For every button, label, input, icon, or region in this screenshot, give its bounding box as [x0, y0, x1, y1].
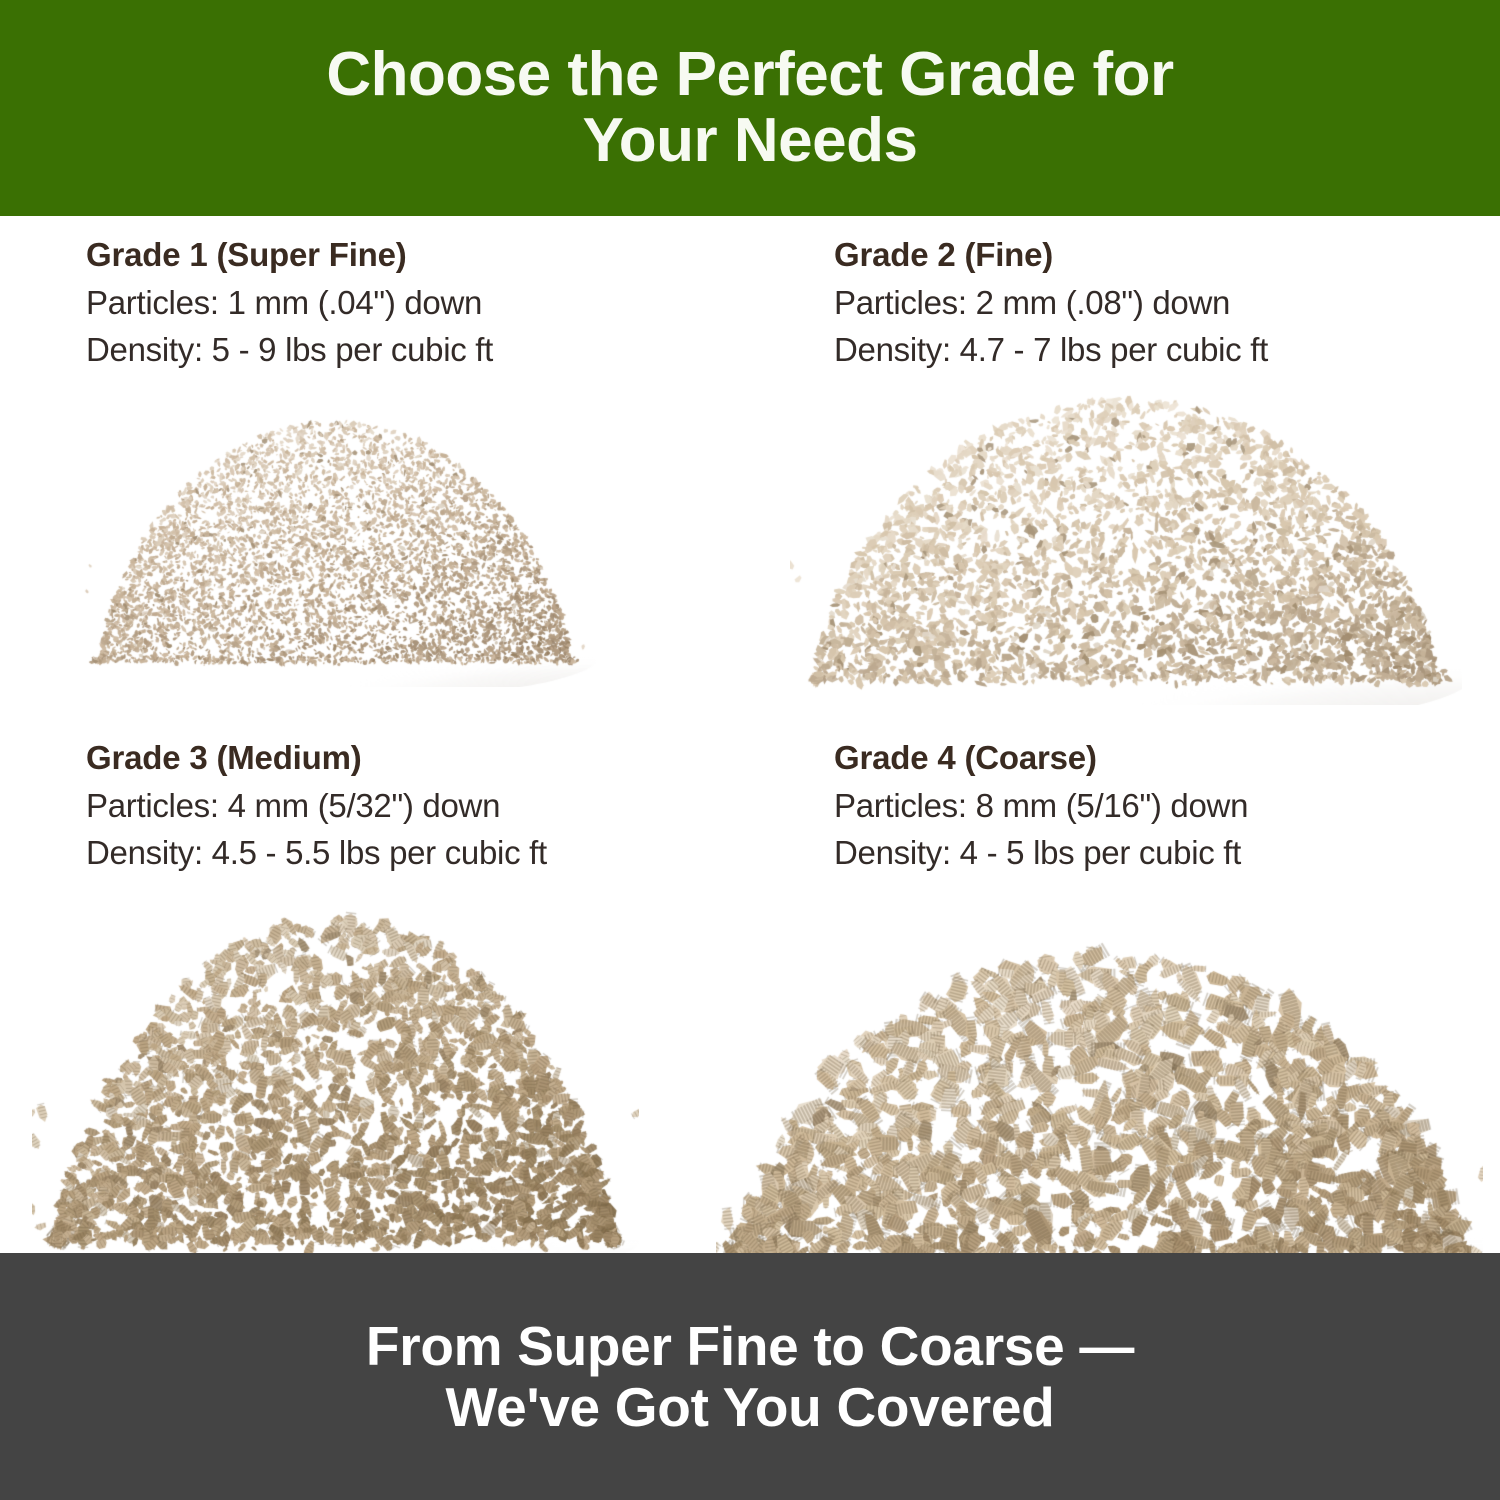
grade-1-text-block: Grade 1 (Super Fine) Particles: 1 mm (.0… — [86, 236, 726, 374]
grade-3-text-block: Grade 3 (Medium) Particles: 4 mm (5/32")… — [86, 739, 726, 877]
page-title-line-2: Your Needs — [190, 108, 1310, 174]
grade-1-particles: Particles: 1 mm (.04") down — [86, 280, 726, 327]
medium-vermiculite-pile-icon — [32, 893, 639, 1265]
grade-3-heading: Grade 3 (Medium) — [86, 739, 726, 777]
page-title: Choose the Perfect Grade for Your Needs — [190, 42, 1310, 173]
grade-2-particles: Particles: 2 mm (.08") down — [834, 280, 1474, 327]
header-banner: Choose the Perfect Grade for Your Needs — [0, 0, 1500, 216]
grade-card-4: Grade 4 (Coarse) Particles: 8 mm (5/16")… — [750, 719, 1500, 1231]
grade-card-2: Grade 2 (Fine) Particles: 2 mm (.08") do… — [750, 216, 1500, 728]
footer-banner: From Super Fine to Coarse — We've Got Yo… — [0, 1253, 1500, 1500]
grade-4-particles: Particles: 8 mm (5/16") down — [834, 783, 1474, 830]
coarse-vermiculite-pile-icon — [716, 928, 1483, 1280]
super-fine-vermiculite-pile-icon — [74, 395, 596, 687]
grade-grid: Grade 1 (Super Fine) Particles: 1 mm (.0… — [0, 216, 1500, 1253]
infographic-page: Choose the Perfect Grade for Your Needs … — [0, 0, 1500, 1500]
grade-card-1: Grade 1 (Super Fine) Particles: 1 mm (.0… — [0, 216, 750, 728]
grade-3-density: Density: 4.5 - 5.5 lbs per cubic ft — [86, 830, 726, 877]
footer-tagline: From Super Fine to Coarse — We've Got Yo… — [150, 1316, 1350, 1437]
grade-3-particles: Particles: 4 mm (5/32") down — [86, 783, 726, 830]
grade-2-density: Density: 4.7 - 7 lbs per cubic ft — [834, 327, 1474, 374]
grade-card-3: Grade 3 (Medium) Particles: 4 mm (5/32")… — [0, 719, 750, 1231]
footer-tagline-line-2: We've Got You Covered — [150, 1377, 1350, 1438]
grade-1-density: Density: 5 - 9 lbs per cubic ft — [86, 327, 726, 374]
footer-tagline-line-1: From Super Fine to Coarse — — [150, 1316, 1350, 1377]
grade-4-text-block: Grade 4 (Coarse) Particles: 8 mm (5/16")… — [834, 739, 1474, 877]
grade-2-text-block: Grade 2 (Fine) Particles: 2 mm (.08") do… — [834, 236, 1474, 374]
page-title-line-1: Choose the Perfect Grade for — [190, 42, 1310, 108]
grade-4-heading: Grade 4 (Coarse) — [834, 739, 1474, 777]
grade-1-heading: Grade 1 (Super Fine) — [86, 236, 726, 274]
fine-vermiculite-pile-icon — [790, 373, 1462, 705]
grade-2-heading: Grade 2 (Fine) — [834, 236, 1474, 274]
grade-4-density: Density: 4 - 5 lbs per cubic ft — [834, 830, 1474, 877]
